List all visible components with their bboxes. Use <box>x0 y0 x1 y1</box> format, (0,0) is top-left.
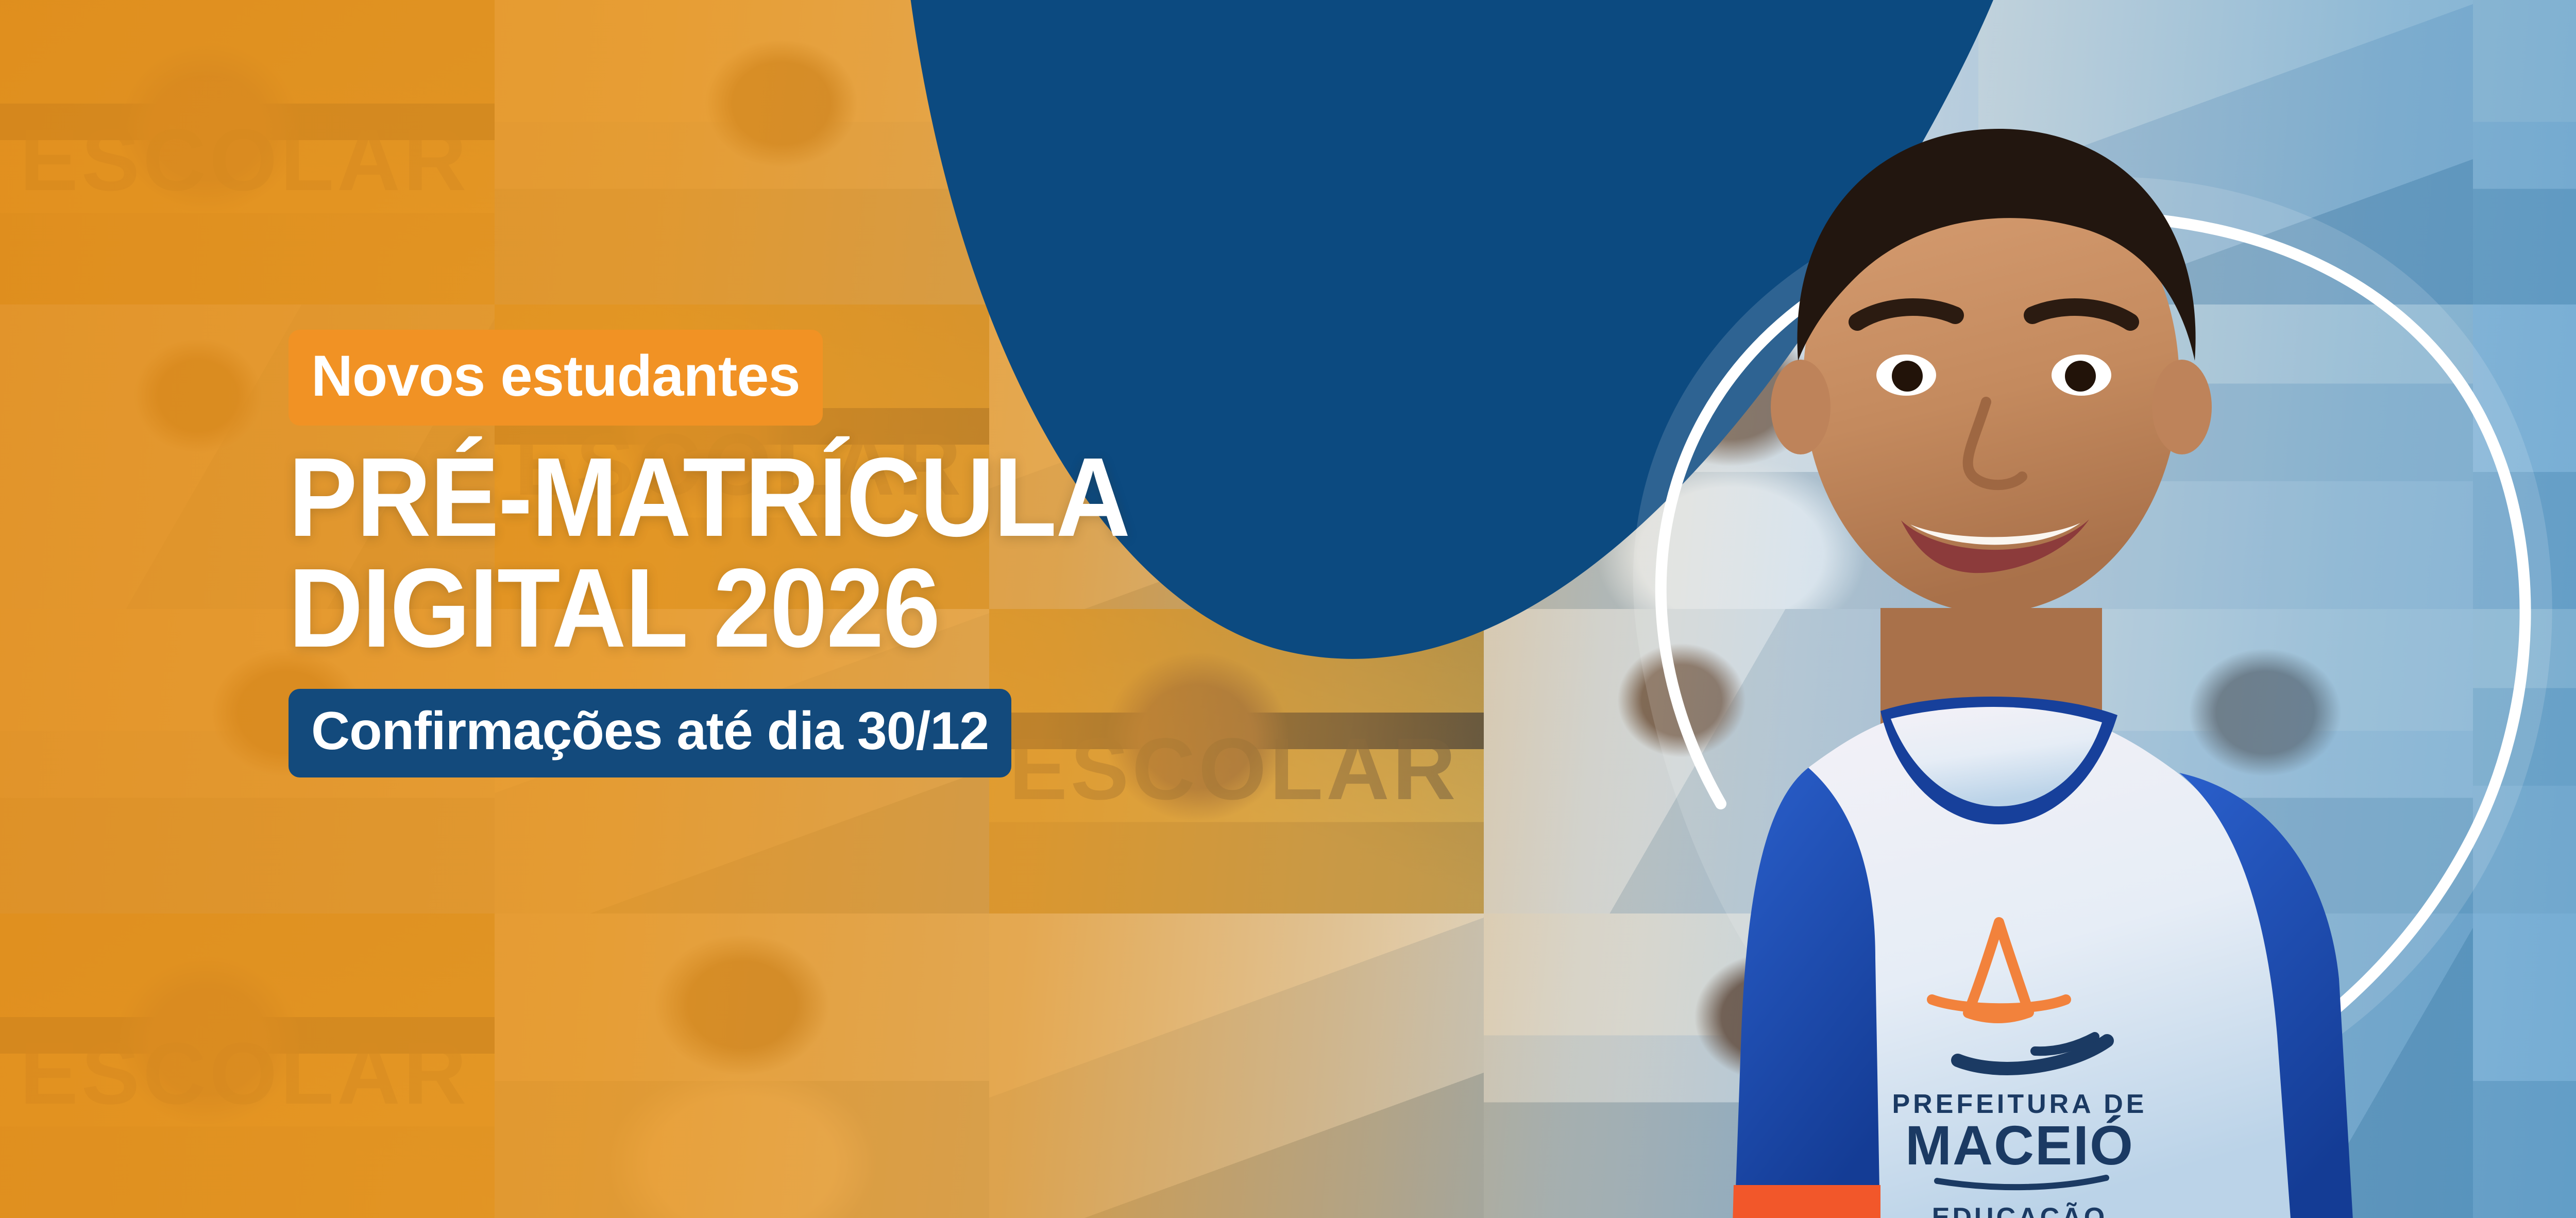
hero-shirt-cuff <box>1732 1185 1880 1218</box>
eyebrow-badge: Novos estudantes <box>289 330 823 426</box>
page-title: PRÉ-MATRÍCULA DIGITAL 2026 <box>289 446 1525 660</box>
hero-pupil-left <box>1892 361 1923 392</box>
hero-ear-left <box>1771 360 1831 454</box>
hero-ear-right <box>2152 360 2212 454</box>
headline-line-1: PRÉ-MATRÍCULA <box>289 446 1426 550</box>
pre-enrollment-banner: ESCOLAR ESCOLAR ESCOLAR ESCOLAR <box>0 0 2576 1218</box>
logo-line-big: MACEIÓ <box>1905 1114 2134 1176</box>
deadline-badge: Confirmações até dia 30/12 <box>289 689 1011 777</box>
hero-student-photo: PREFEITURA DE MACEIÓ EDUCAÇÃO <box>1520 0 2499 1218</box>
logo-line-sub: EDUCAÇÃO <box>1932 1202 2107 1218</box>
banner-copy-block: Novos estudantes PRÉ-MATRÍCULA DIGITAL 2… <box>289 330 1525 777</box>
hero-pupil-right <box>2065 361 2096 392</box>
headline-line-2: DIGITAL 2026 <box>289 557 1426 661</box>
